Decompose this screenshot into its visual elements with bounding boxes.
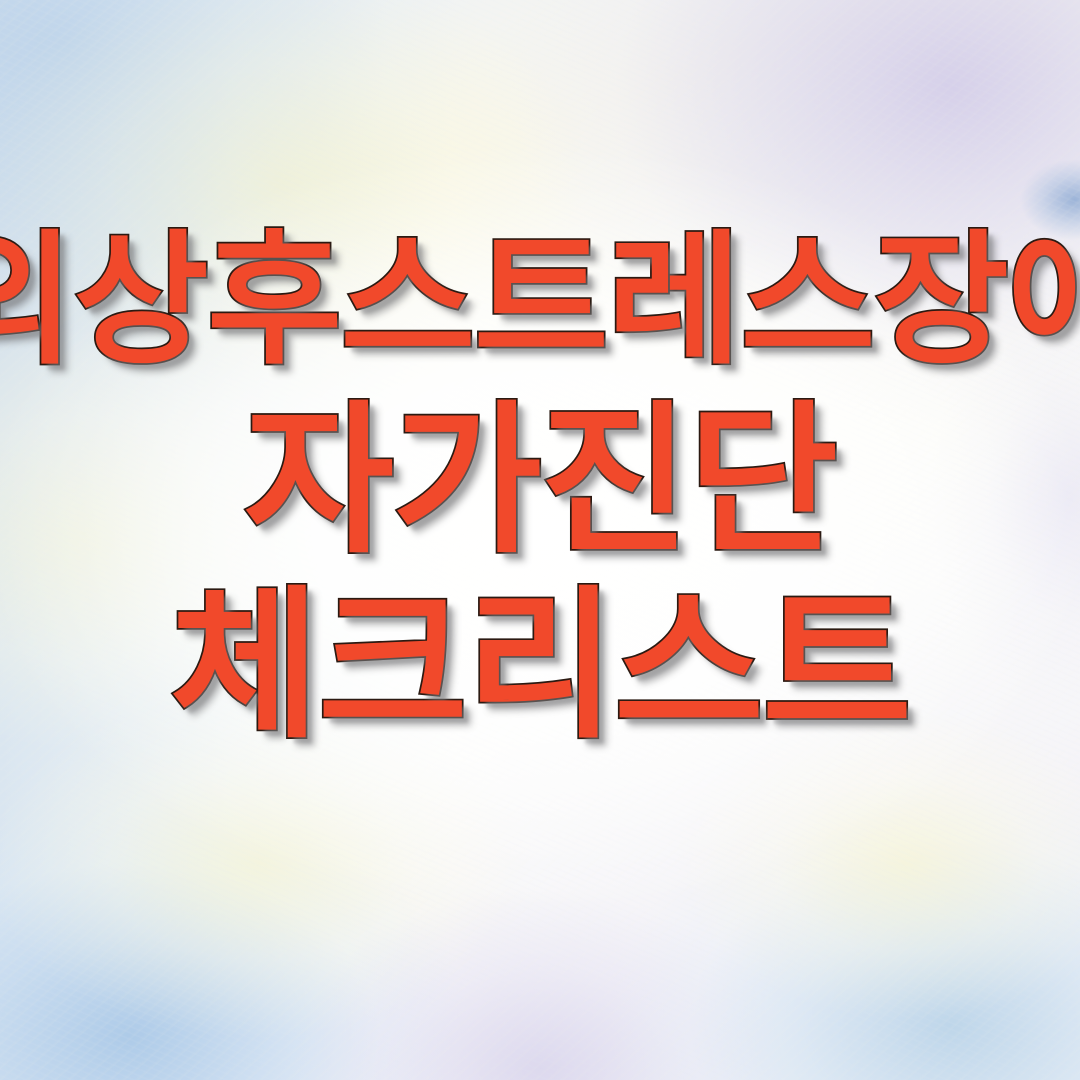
headline-line-2: 자가진단 — [244, 400, 836, 563]
headline-line-3: 체크리스트 — [170, 585, 910, 748]
poster-canvas: 외상후스트레스장애 자가진단 체크리스트 — [0, 0, 1080, 1080]
headline-line-1: 외상후스트레스장애 — [0, 228, 1080, 372]
headline-block: 외상후스트레스장애 자가진단 체크리스트 — [0, 228, 1080, 748]
